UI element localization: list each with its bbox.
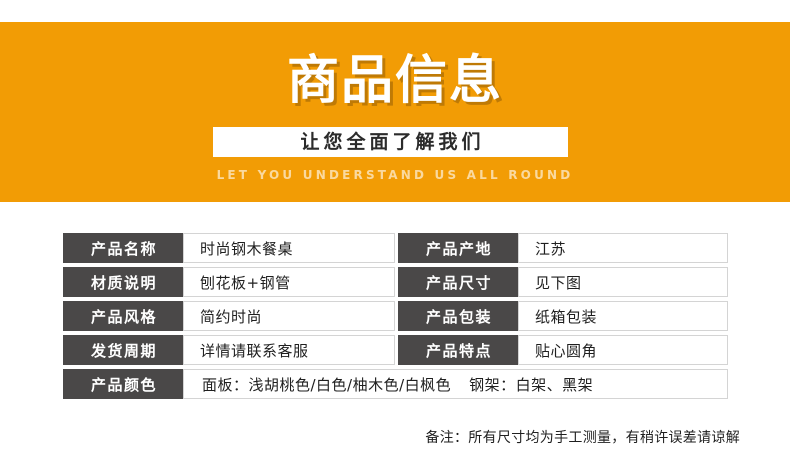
frame-colors-text: 钢架：白架、黑架 bbox=[469, 374, 593, 395]
spec-value-cell: 刨花板+钢管 bbox=[183, 267, 395, 297]
spec-value-cell: 江苏 bbox=[518, 233, 728, 263]
spec-value-cell: 时尚钢木餐桌 bbox=[183, 233, 395, 263]
spec-value-cell: 贴心圆角 bbox=[518, 335, 728, 365]
spec-label-cell: 材质说明 bbox=[63, 267, 183, 297]
subtitle-text: 让您全面了解我们 bbox=[296, 131, 484, 153]
spec-label-cell: 产品尺寸 bbox=[398, 267, 518, 297]
spec-label-cell: 产品名称 bbox=[63, 233, 183, 263]
spec-label-cell: 产品风格 bbox=[63, 301, 183, 331]
spec-value-cell-colors: 面板：浅胡桃色/白色/柚木色/白枫色 钢架：白架、黑架 bbox=[183, 369, 728, 399]
spec-label-cell: 产品包装 bbox=[398, 301, 518, 331]
product-info-page: 商品信息 让您全面了解我们 LET YOU UNDERSTAND US ALL … bbox=[0, 0, 790, 475]
spec-label-cell: 产品特点 bbox=[398, 335, 518, 365]
panel-colors-text: 面板：浅胡桃色/白色/柚木色/白枫色 bbox=[202, 374, 451, 395]
footnote-text: 备注：所有尺寸均为手工测量，有稍许误差请谅解 bbox=[0, 428, 740, 448]
spec-value-cell: 见下图 bbox=[518, 267, 728, 297]
spec-label-cell: 产品颜色 bbox=[63, 369, 183, 399]
table-row: 产品风格 简约时尚 产品包装 纸箱包装 bbox=[63, 301, 728, 331]
spec-value-cell: 纸箱包装 bbox=[518, 301, 728, 331]
spec-value-cell: 详情请联系客服 bbox=[183, 335, 395, 365]
table-row: 产品名称 时尚钢木餐桌 产品产地 江苏 bbox=[63, 233, 728, 263]
spec-value-cell: 简约时尚 bbox=[183, 301, 395, 331]
hero-banner: 商品信息 让您全面了解我们 LET YOU UNDERSTAND US ALL … bbox=[0, 22, 790, 202]
spec-table: 产品名称 时尚钢木餐桌 产品产地 江苏 材质说明 刨花板+钢管 产品尺寸 见下图… bbox=[63, 233, 728, 403]
subtitle-bar: 让您全面了解我们 bbox=[213, 127, 568, 157]
page-title: 商品信息 bbox=[0, 52, 790, 110]
tagline-text: LET YOU UNDERSTAND US ALL ROUND bbox=[0, 167, 790, 183]
table-row: 材质说明 刨花板+钢管 产品尺寸 见下图 bbox=[63, 267, 728, 297]
table-row: 发货周期 详情请联系客服 产品特点 贴心圆角 bbox=[63, 335, 728, 365]
spec-label-cell: 发货周期 bbox=[63, 335, 183, 365]
table-row-colors: 产品颜色 面板：浅胡桃色/白色/柚木色/白枫色 钢架：白架、黑架 bbox=[63, 369, 728, 399]
spec-label-cell: 产品产地 bbox=[398, 233, 518, 263]
